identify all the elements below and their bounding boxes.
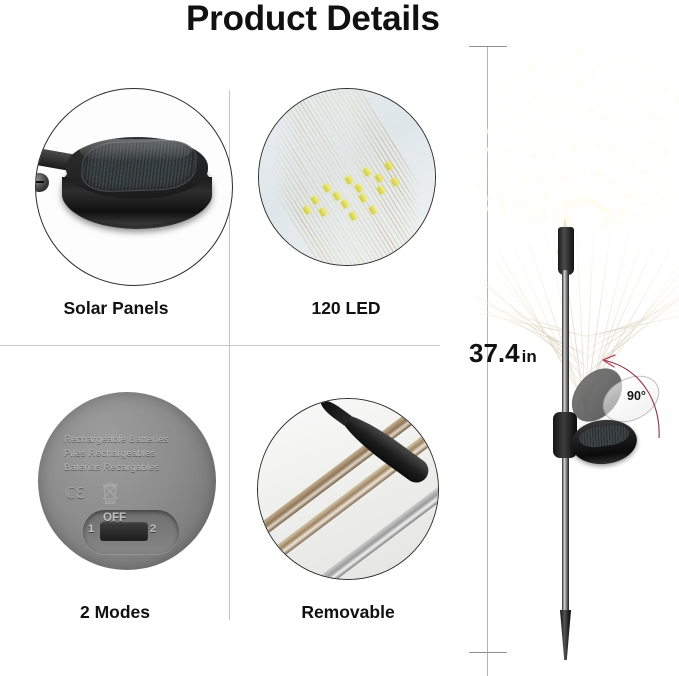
battery-cover-photo: Rechargeable Batteries Piles Rechargeabl…	[38, 392, 216, 570]
stake-tip-photo	[257, 398, 439, 580]
switch-label-off: OFF	[103, 512, 126, 524]
caption-removable: Removable	[250, 602, 446, 623]
hinge-screw	[35, 173, 49, 192]
height-value: 37.4	[469, 338, 520, 368]
switch-label-2: 2	[150, 523, 156, 535]
caption-solar-panels: Solar Panels	[18, 298, 214, 319]
led-firework-burst	[510, 42, 660, 242]
rotation-angle-label: 90°	[627, 389, 646, 403]
measurement-tick-top	[469, 46, 507, 47]
grid-divider-horizontal	[0, 345, 440, 346]
stake-ground-tip	[560, 610, 571, 660]
switch-label-1: 1	[88, 523, 94, 535]
battery-label-line-1: Rechargeable Batteries	[64, 434, 169, 445]
ce-mark-icon: ℂℇ	[65, 484, 85, 502]
height-unit: in	[522, 347, 537, 366]
solar-panel-photo	[35, 88, 233, 286]
rotation-arc-icon	[563, 352, 675, 448]
battery-label-line-3: Baterias Recargables	[64, 462, 160, 473]
caption-modes: 2 Modes	[26, 602, 204, 623]
burst-black-collar	[558, 227, 574, 275]
led-wire-macro-photo	[258, 88, 436, 266]
battery-label-line-2: Piles Rechargeables	[64, 448, 156, 459]
solar-cell-glare	[79, 139, 194, 161]
measurement-tick-bottom	[469, 652, 507, 653]
height-annotation: 37.4in	[469, 338, 537, 369]
weee-bin-icon	[100, 480, 120, 506]
caption-led-count: 120 LED	[248, 298, 444, 319]
mode-switch-rocker[interactable]	[100, 522, 148, 541]
product-main-image: 37.4in 90°	[455, 22, 679, 658]
